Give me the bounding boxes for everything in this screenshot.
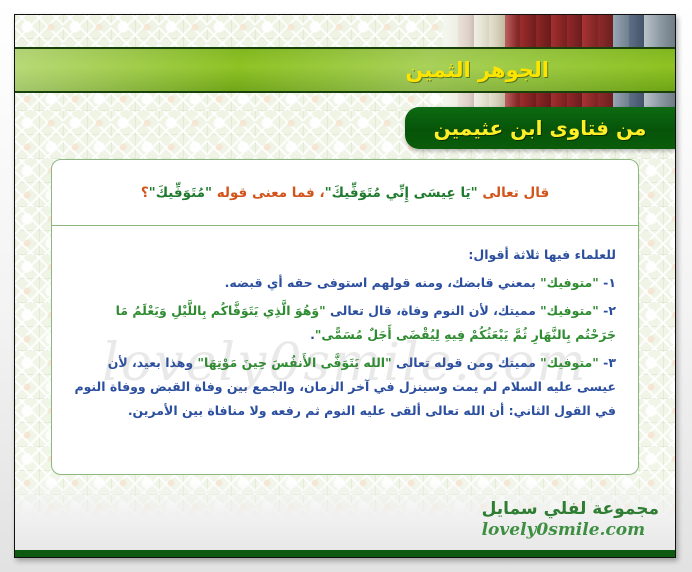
footer: مجموعة لفلي سمايل lovely0smile.com bbox=[15, 479, 675, 557]
content-card: قال تعالى "يَا عِيسَى إِنِّي مُتَوَفِّيك… bbox=[51, 159, 639, 475]
point-body: بمعني قابضك، ومنه قولهم استوفى حقه أي قب… bbox=[225, 275, 541, 290]
footer-branding: مجموعة لفلي سمايل lovely0smile.com bbox=[482, 499, 659, 542]
page-root: الجوهر الثمين من فتاوى ابن عثيمين قال تع… bbox=[0, 0, 692, 572]
question-prefix: قال تعالى bbox=[478, 185, 550, 201]
answer-point: ٢- "متوفيك" مميتك، لأن النوم وفاة، قال ت… bbox=[74, 299, 616, 348]
title-banner: الجوهر الثمين bbox=[15, 47, 675, 93]
answer-point: ١- "متوفيك" بمعني قابضك، ومنه قولهم استو… bbox=[74, 271, 616, 295]
answer-lead: للعلماء فيها ثلاثة أقوال: bbox=[74, 244, 616, 267]
brand-name-arabic: مجموعة لفلي سمايل bbox=[482, 499, 659, 520]
header: الجوهر الثمين من فتاوى ابن عثيمين bbox=[15, 15, 675, 147]
point-term: "متوفيك" bbox=[540, 355, 599, 370]
answer-section: للعلماء فيها ثلاثة أقوال: ١- "متوفيك" بم… bbox=[52, 226, 638, 437]
footer-accent-bar bbox=[15, 550, 675, 557]
point-body: مميتك، لأن النوم وفاة، قال تعالى bbox=[326, 303, 541, 318]
question-suffix: ؟ bbox=[141, 185, 149, 201]
point-marker: ٢- bbox=[599, 303, 616, 318]
question-verse: "يَا عِيسَى إِنِّي مُتَوَفِّيكَ" bbox=[325, 185, 478, 201]
answer-point: ٣- "متوفيك" مميتك ومن قوله تعالى "الله ي… bbox=[74, 351, 616, 424]
question-term: "مُتَوَفِّيكَ" bbox=[149, 185, 212, 201]
content-frame: الجوهر الثمين من فتاوى ابن عثيمين قال تع… bbox=[14, 14, 676, 558]
brand-website-url: lovely0smile.com bbox=[482, 520, 659, 541]
point-ayah: "الله يَتَوَفَّى الأَنفُسَ حِينَ مَوْتِه… bbox=[198, 355, 392, 370]
point-term: "متوفيك" bbox=[540, 303, 599, 318]
point-term: "متوفيك" bbox=[540, 275, 599, 290]
point-marker: ١- bbox=[599, 275, 616, 290]
question-middle: ، فما معنى قوله bbox=[212, 185, 325, 201]
point-marker: ٣- bbox=[599, 355, 616, 370]
question-text: قال تعالى "يَا عِيسَى إِنِّي مُتَوَفِّيك… bbox=[70, 182, 620, 205]
page-title: الجوهر الثمين bbox=[405, 58, 549, 82]
question-section: قال تعالى "يَا عِيسَى إِنِّي مُتَوَفِّيك… bbox=[52, 160, 638, 226]
subtitle-label: من فتاوى ابن عثيمين bbox=[434, 116, 647, 140]
subtitle-badge: من فتاوى ابن عثيمين bbox=[405, 107, 675, 149]
point-body: مميتك ومن قوله تعالى bbox=[392, 355, 541, 370]
